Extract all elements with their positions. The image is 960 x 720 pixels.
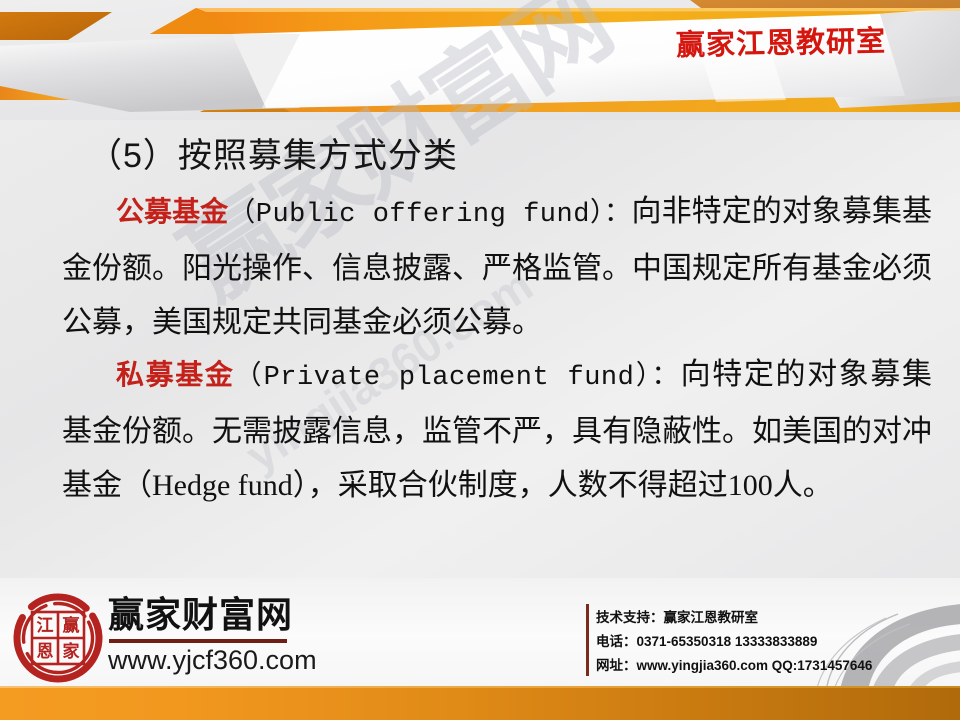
term-public-offering-fund: 公募基金: [116, 196, 228, 227]
header-banner: 赢家江恩教研室: [0, 0, 960, 120]
paragraph-private: 私募基金（Private placement fund）：向特定的对象募集基金份…: [62, 348, 932, 513]
lead-tail-private: 向特定的对象: [681, 358, 871, 391]
seal-char-1: 江: [37, 616, 54, 635]
header-title: 赢家江恩教研室: [676, 18, 887, 64]
seal-char-2: 赢: [63, 615, 80, 635]
seal-icon: 江 赢 恩 家: [12, 592, 104, 684]
contact-website: 网址：www.yingjia360.com QQ:1731457646: [596, 654, 872, 678]
contact-phone: 电话：0371-65350318 13333833889: [596, 630, 872, 654]
term-private-placement-fund: 私募基金: [116, 359, 234, 390]
logo-brand-name: 赢家财富网: [108, 594, 308, 636]
page-title: （5）按照募集方式分类: [88, 128, 458, 177]
paragraph-block-private: 私募基金（Private placement fund）：向特定的对象募集基金份…: [62, 348, 932, 513]
brand-logo[interactable]: 江 赢 恩 家 赢家财富网 www.yjcf360.com: [12, 592, 312, 688]
contact-support: 技术支持：赢家江恩教研室: [596, 606, 872, 630]
seal-char-4: 家: [63, 641, 80, 661]
bottom-bar: [0, 688, 960, 720]
paragraph-public: 公募基金（Public offering fund）：向非特定的对象募集基金份额…: [62, 185, 932, 350]
lead-tail-public: 向非特定的对象: [632, 195, 842, 228]
logo-divider: [109, 639, 287, 643]
seal-char-3: 恩: [37, 642, 54, 661]
slide-canvas: 赢家江恩教研室 赢家财富网 yingjia360.com （5）按照募集方式分类…: [0, 0, 960, 720]
logo-text-group: 赢家财富网 www.yjcf360.com: [108, 594, 308, 676]
english-private-placement-fund: （Private placement fund）：: [234, 363, 680, 393]
contact-divider: [586, 604, 589, 676]
logo-url[interactable]: www.yjcf360.com: [108, 645, 308, 676]
paragraph-block-public: 公募基金（Public offering fund）：向非特定的对象募集基金份额…: [62, 185, 932, 350]
english-public-offering-fund: （Public offering fund）：: [228, 200, 631, 230]
contact-block: 技术支持：赢家江恩教研室 电话：0371-65350318 1333383388…: [596, 606, 872, 678]
